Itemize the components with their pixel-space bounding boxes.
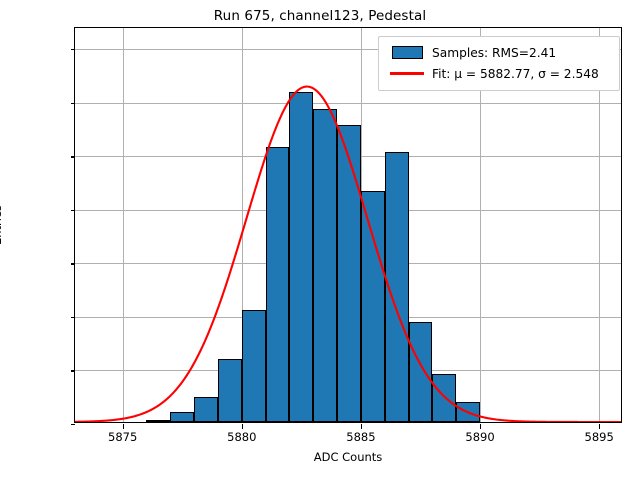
x-axis-tick-label: 5880	[227, 430, 256, 444]
x-axis-tick-label: 5890	[465, 430, 494, 444]
legend-box: Samples: RMS=2.41 Fit: μ = 5882.77, σ = …	[378, 36, 620, 91]
legend-line-icon	[386, 72, 428, 74]
y-axis-tick	[71, 317, 76, 318]
x-axis-tick-label: 5895	[585, 430, 614, 444]
y-axis-tick	[71, 49, 76, 50]
figure-canvas: Run 675, channel123, Pedestal 0250500750…	[0, 0, 640, 480]
legend-entry-fit: Fit: μ = 5882.77, σ = 2.548	[386, 63, 612, 84]
x-axis-title: ADC Counts	[74, 450, 622, 464]
y-axis-tick	[71, 424, 76, 425]
x-axis-tick	[123, 424, 124, 429]
x-axis-tick-label: 5885	[346, 430, 375, 444]
y-axis-tick	[71, 156, 76, 157]
y-axis-title: Entries	[0, 205, 4, 245]
legend-swatch-icon	[386, 46, 428, 59]
y-axis-tick	[71, 210, 76, 211]
legend-label-samples: Samples: RMS=2.41	[428, 46, 556, 60]
chart-title: Run 675, channel123, Pedestal	[0, 8, 640, 24]
gaussian-fit-path	[75, 87, 621, 422]
x-axis-tick	[361, 424, 362, 429]
x-axis-tick-label: 5875	[108, 430, 137, 444]
legend-label-fit: Fit: μ = 5882.77, σ = 2.548	[428, 67, 599, 81]
y-axis-tick	[71, 103, 76, 104]
x-axis-tick	[599, 424, 600, 429]
y-axis-tick	[71, 370, 76, 371]
legend-entry-samples: Samples: RMS=2.41	[386, 42, 612, 63]
x-axis-tick	[242, 424, 243, 429]
x-axis-tick	[480, 424, 481, 429]
y-axis-tick	[71, 263, 76, 264]
